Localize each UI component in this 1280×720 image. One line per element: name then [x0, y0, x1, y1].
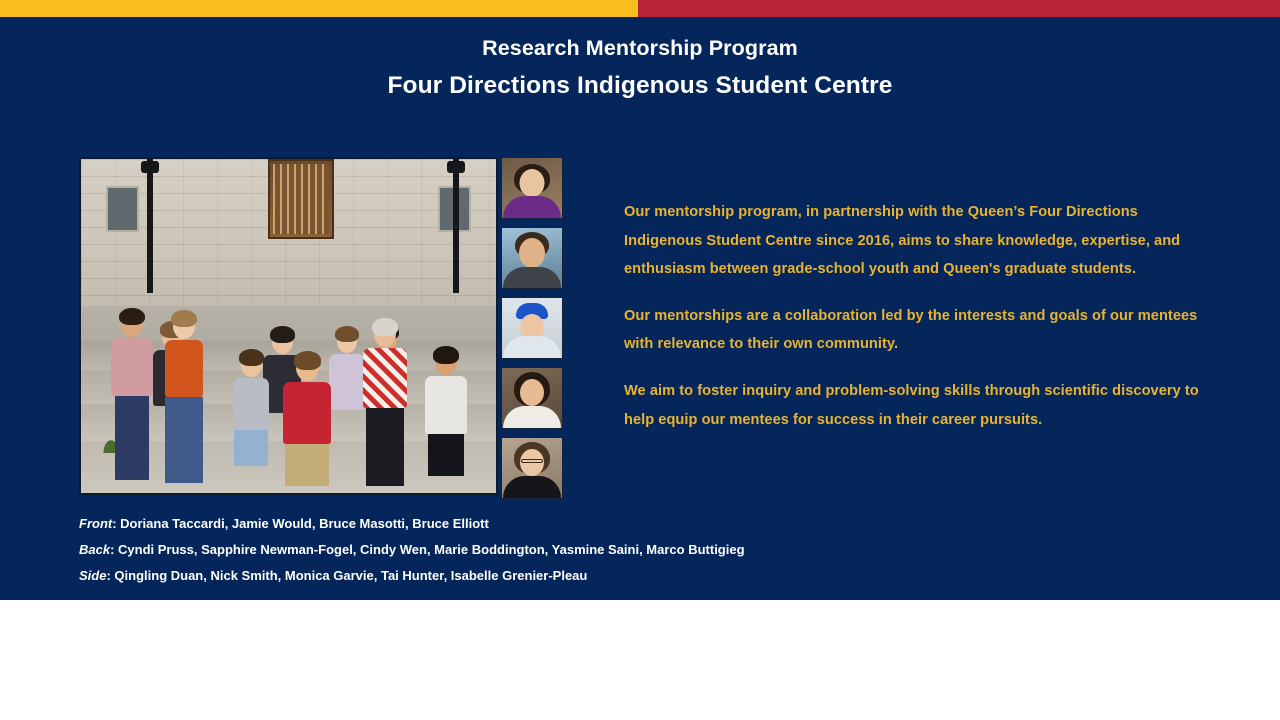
caption-sep-back: :	[110, 542, 118, 557]
portrait-5	[501, 437, 563, 499]
person-front-2	[165, 314, 203, 483]
building-window-left	[106, 186, 139, 233]
footer-bar: Four Directions Indigenous Student Centr…	[0, 600, 1280, 720]
top-accent-bar	[0, 0, 1280, 17]
title-line-1: Research Mentorship Program	[0, 33, 1280, 63]
person-front-6	[425, 350, 467, 476]
top-bar-red-segment	[638, 0, 1280, 17]
caption-sep-front: :	[112, 516, 120, 531]
glasses-icon	[521, 459, 543, 463]
person-front-3	[233, 353, 269, 466]
portrait-1	[501, 157, 563, 219]
page-title: Research Mentorship Program Four Directi…	[0, 33, 1280, 103]
person-front-5	[363, 322, 407, 486]
portrait-3	[501, 297, 563, 359]
top-bar-yellow-segment	[0, 0, 638, 17]
title-line-2: Four Directions Indigenous Student Centr…	[0, 69, 1280, 103]
person-front-1	[111, 312, 153, 480]
description-paragraph-3: We aim to foster inquiry and problem-sol…	[624, 377, 1216, 434]
photo-caption: Front: Doriana Taccardi, Jamie Would, Br…	[79, 511, 1199, 589]
caption-label-side: Side	[79, 568, 106, 583]
caption-names-back: Cyndi Pruss, Sapphire Newman-Fogel, Cind…	[118, 542, 745, 557]
program-description: Our mentorship program, in partnership w…	[624, 198, 1216, 434]
caption-row-back: Back: Cyndi Pruss, Sapphire Newman-Fogel…	[79, 537, 1199, 563]
caption-row-front: Front: Doriana Taccardi, Jamie Would, Br…	[79, 511, 1199, 537]
description-paragraph-1: Our mentorship program, in partnership w…	[624, 198, 1216, 284]
portrait-strip	[501, 157, 563, 499]
description-paragraph-2: Our mentorships are a collaboration led …	[624, 302, 1216, 359]
building-door	[268, 159, 334, 239]
person-back-3	[329, 330, 365, 410]
caption-row-side: Side: Qingling Duan, Nick Smith, Monica …	[79, 563, 1199, 589]
caption-names-front: Doriana Taccardi, Jamie Would, Bruce Mas…	[120, 516, 489, 531]
person-front-4	[283, 355, 331, 486]
main-content-panel: Research Mentorship Program Four Directi…	[0, 17, 1280, 600]
lamp-post-left	[147, 159, 153, 293]
caption-label-back: Back	[79, 542, 110, 557]
lamp-post-right	[453, 159, 459, 293]
portrait-2	[501, 227, 563, 289]
group-photo	[79, 157, 498, 495]
poster-slide: Research Mentorship Program Four Directi…	[0, 0, 1280, 720]
portrait-4	[501, 367, 563, 429]
caption-label-front: Front	[79, 516, 112, 531]
caption-names-side: Qingling Duan, Nick Smith, Monica Garvie…	[114, 568, 587, 583]
